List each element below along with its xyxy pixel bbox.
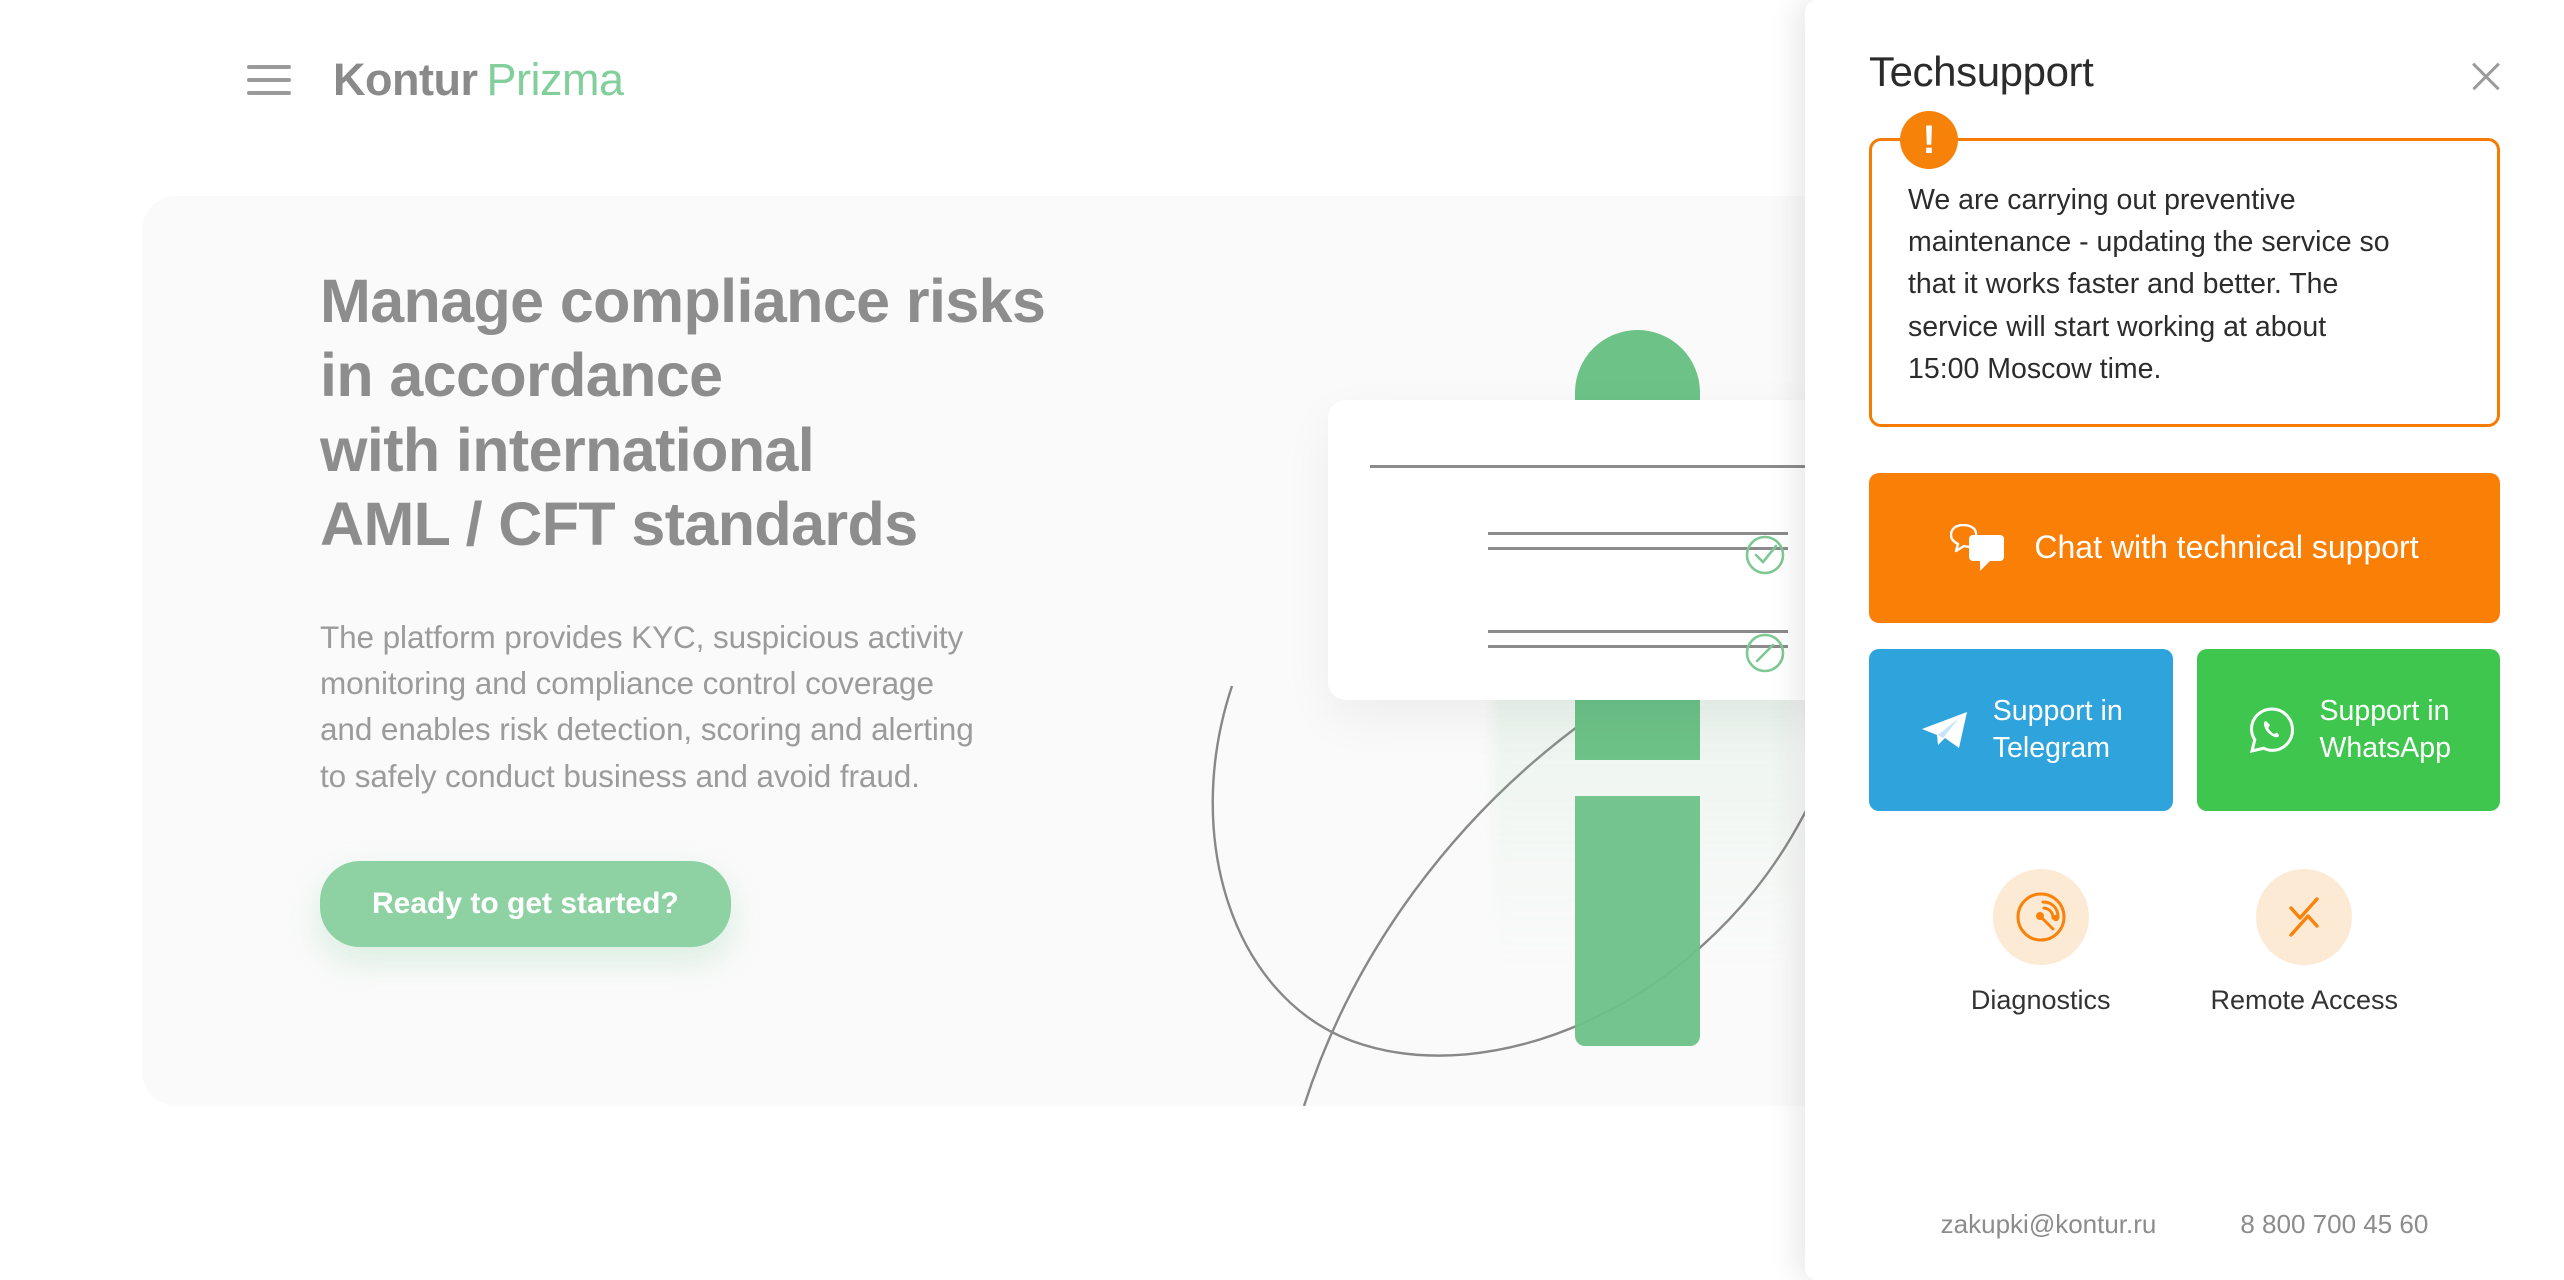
hero-text-block: Manage compliance risks in accordance wi…	[320, 264, 1320, 947]
app-screen: KonturPrizma	[0, 0, 2564, 1280]
hamburger-menu-icon[interactable]	[247, 65, 291, 95]
maintenance-alert: ! We are carrying out preventive mainten…	[1869, 138, 2500, 427]
exclamation-icon: !	[1900, 111, 1958, 169]
panel-body: ! We are carrying out preventive mainten…	[1805, 98, 2564, 1209]
green-shape-bottom	[1575, 796, 1700, 1046]
telegram-icon	[1919, 707, 1971, 753]
panel-header: Techsupport	[1805, 0, 2564, 98]
green-shape-top	[1575, 330, 1700, 760]
speedometer-icon	[2012, 888, 2070, 946]
brand-name-secondary: Prizma	[486, 54, 623, 105]
check-circle-icon	[1742, 532, 1788, 578]
panel-title: Techsupport	[1869, 48, 2093, 96]
close-icon[interactable]	[2464, 54, 2508, 98]
telegram-button-label: Support in Telegram	[1993, 693, 2123, 766]
chat-with-support-button[interactable]: Chat with technical support	[1869, 473, 2500, 623]
document-row	[1488, 630, 1788, 648]
panel-footer: zakupki@kontur.ru 8 800 700 45 60	[1805, 1209, 2564, 1280]
hero-card: Manage compliance risks in accordance wi…	[142, 196, 1932, 1106]
whatsapp-support-button[interactable]: Support in WhatsApp	[2197, 649, 2501, 811]
diagnostics-action[interactable]: Diagnostics	[1971, 869, 2111, 1016]
document-header-line	[1370, 465, 1870, 468]
get-started-button[interactable]: Ready to get started?	[320, 861, 731, 947]
marketing-page: KonturPrizma	[0, 0, 1805, 1280]
techsupport-panel: Techsupport ! We are carrying out preven…	[1805, 0, 2564, 1280]
top-bar: KonturPrizma	[0, 0, 1805, 160]
remote-access-action[interactable]: Remote Access	[2210, 869, 2398, 1016]
document-text-lines	[1488, 630, 1788, 648]
messenger-buttons-row: Support in Telegram Support in WhatsApp	[1869, 649, 2500, 811]
remote-access-label: Remote Access	[2210, 985, 2398, 1016]
support-phone-link[interactable]: 8 800 700 45 60	[2240, 1209, 2428, 1240]
chat-bubbles-icon	[1950, 524, 2006, 572]
remote-access-icon	[2275, 888, 2333, 946]
page-title: Manage compliance risks in accordance wi…	[320, 264, 1320, 562]
diagnostics-icon-circle	[1993, 869, 2089, 965]
document-card-graphic	[1328, 400, 1888, 700]
brand-logo[interactable]: KonturPrizma	[333, 54, 623, 106]
whatsapp-button-label: Support in WhatsApp	[2320, 693, 2451, 766]
telegram-support-button[interactable]: Support in Telegram	[1869, 649, 2173, 811]
whatsapp-icon	[2246, 704, 2298, 756]
chat-button-label: Chat with technical support	[2034, 529, 2418, 566]
support-email-link[interactable]: zakupki@kontur.ru	[1941, 1209, 2157, 1240]
green-glow	[1492, 496, 1792, 966]
document-row	[1488, 532, 1788, 550]
hero-description: The platform provides KYC, suspicious ac…	[320, 614, 1320, 799]
brand-name-primary: Kontur	[333, 54, 477, 105]
document-text-lines	[1488, 532, 1788, 550]
maintenance-alert-text: We are carrying out preventive maintenan…	[1908, 179, 2461, 390]
deny-circle-icon	[1742, 630, 1788, 676]
remote-access-icon-circle	[2256, 869, 2352, 965]
diagnostics-label: Diagnostics	[1971, 985, 2111, 1016]
quick-actions-row: Diagnostics Remote Access	[1869, 869, 2500, 1016]
